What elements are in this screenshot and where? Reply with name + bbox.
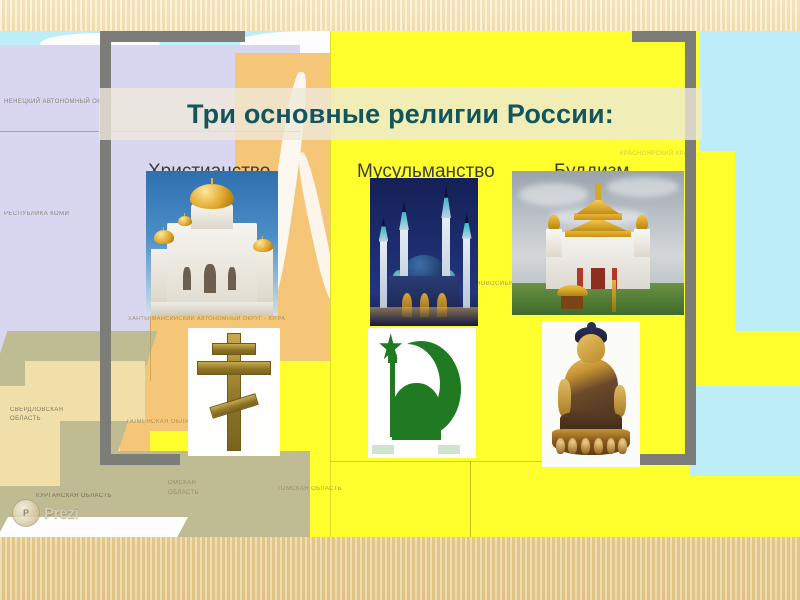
prezi-watermark[interactable]: P Prezi xyxy=(12,496,104,530)
cathedral-dome-main xyxy=(190,184,235,209)
map-label-omsk: ОМСКАЯ ОБЛАСТЬ xyxy=(168,479,202,498)
map-label-komi: РЕСПУБЛИКА КОМИ xyxy=(4,211,69,217)
presentation-backdrop: НЕНЕЦКИЙ АВТОНОМНЫЙ ОКРУГ РЕСПУБЛИКА КОМ… xyxy=(0,0,800,600)
minaret-silhouette-icon xyxy=(390,362,395,437)
temple-cloud-2 xyxy=(607,177,679,197)
lotus-petal-4 xyxy=(594,438,603,454)
prezi-wordmark: Prezi xyxy=(44,505,78,522)
frame-bracket-top xyxy=(100,31,245,42)
map-label-nenets: НЕНЕЦКИЙ АВТОНОМНЫЙ ОКРУГ xyxy=(4,99,113,105)
cathedral-window-2 xyxy=(204,264,216,293)
map-boundary-4 xyxy=(470,461,471,537)
map-label-tomsk: ТОМСКАЯ ОБЛАСТЬ xyxy=(277,486,342,492)
buddha-head xyxy=(577,334,604,363)
map-region-east-sea-c xyxy=(690,386,800,476)
footer-block-right xyxy=(438,445,460,454)
temple-spire xyxy=(595,183,602,200)
footer-block-left xyxy=(372,445,394,454)
lotus-petal-2 xyxy=(568,438,577,454)
temple-cloud-1 xyxy=(519,183,588,206)
lotus-petal-5 xyxy=(607,438,616,454)
frame-bracket-left-foot xyxy=(100,454,180,465)
map-label-yugra: ХАНТЫ-МАНСИЙСКИЙ АВТОНОМНЫЙ ОКРУГ - ЮГРА xyxy=(128,316,286,322)
temple-door xyxy=(591,268,605,290)
mosque-ground-lights xyxy=(370,307,478,326)
map-label-krasnoyarsk: КРАСНОЯРСКИЙ КРАЙ xyxy=(620,151,693,157)
cathedral-dome-right xyxy=(253,239,273,252)
symbol-orthodox-cross xyxy=(188,328,280,456)
cathedral-dome-back xyxy=(178,216,193,226)
cross-top-beam xyxy=(212,343,256,355)
photo-cathedral-of-christ-the-saviour xyxy=(146,171,278,316)
page-title: Три основные религии России: xyxy=(99,88,702,140)
mosque-minaret-4 xyxy=(463,237,471,308)
map-label-sverdlovsk: СВЕРДЛОВСКАЯ ОБЛАСТЬ xyxy=(10,406,70,424)
symbol-seated-buddha-statue xyxy=(542,321,640,467)
cross-main-beam xyxy=(197,361,271,375)
cathedral-window-1 xyxy=(183,267,191,290)
temple-prayer-pole xyxy=(612,280,616,312)
photo-golden-abode-of-buddha-shakyamuni xyxy=(512,171,684,315)
slide-canvas: НЕНЕЦКИЙ АВТОНОМНЫЙ ОКРУГ РЕСПУБЛИКА КОМ… xyxy=(0,31,800,537)
cathedral-window-3 xyxy=(228,267,236,290)
islam-card-footer xyxy=(372,445,471,454)
lotus-petal-3 xyxy=(581,438,590,454)
lotus-petal-6 xyxy=(618,438,627,454)
mosque-minaret-1 xyxy=(380,240,388,308)
cathedral-dome-left xyxy=(154,230,174,243)
photo-kul-sharif-mosque xyxy=(370,178,478,326)
lotus-petal-1 xyxy=(556,438,565,454)
temple-turret-left xyxy=(546,229,561,258)
temple-turret-right xyxy=(634,229,649,258)
cathedral-base xyxy=(151,302,272,317)
mosque-silhouette-icon xyxy=(392,383,442,440)
symbol-islamic-crescent-star-mosque xyxy=(368,328,476,458)
map-region-east-sea-b xyxy=(735,131,800,331)
prezi-badge-icon: P xyxy=(12,499,40,527)
temple-stupa xyxy=(557,285,588,309)
